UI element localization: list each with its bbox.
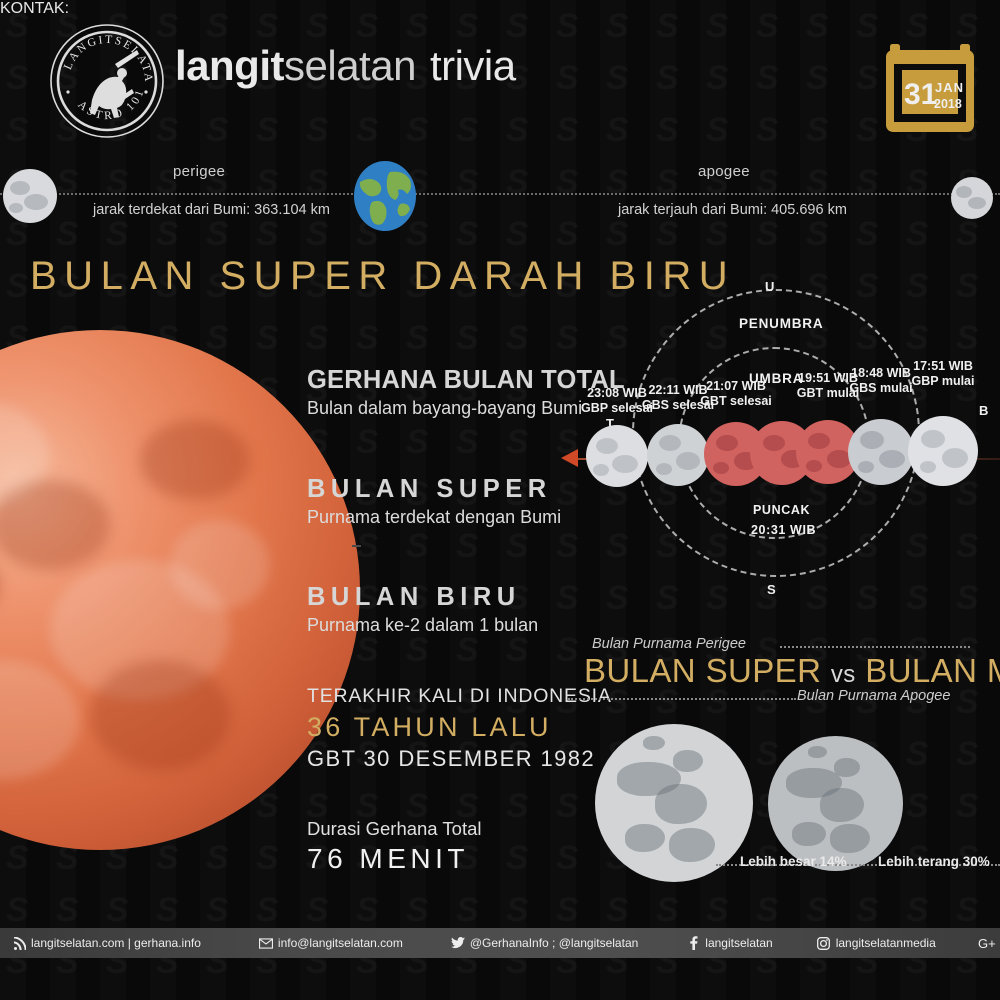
duration-block: Durasi Gerhana Total 76 MENIT [307, 818, 481, 875]
duration-value: 76 MENIT [307, 843, 481, 875]
fact-heading: BULAN BIRU [307, 583, 538, 612]
apogee-distance: jarak terjauh dari Bumi: 405.696 km [618, 202, 847, 218]
perigee-distance: jarak terdekat dari Bumi: 363.104 km [93, 202, 330, 218]
contact-twitter[interactable]: @GerhanaInfo ; @langitselatan [451, 936, 638, 950]
contact-instagram[interactable]: langitselatanmedia [817, 936, 936, 950]
facebook-icon [686, 936, 700, 950]
decorative-dash [352, 545, 361, 547]
title-right: BULAN MINI [865, 652, 1000, 689]
super-vs-mini-section: Bulan Purnama Perigee BULAN SUPER vs BUL… [560, 632, 1000, 892]
brand-selatan: selatan [284, 42, 416, 89]
contact-website[interactable]: langitselatan.com | gerhana.info [12, 936, 201, 950]
svg-text:31: 31 [904, 78, 937, 111]
fact-subtitle: Purnama ke-2 dalam 1 bulan [307, 615, 538, 636]
blood-moon-image [0, 330, 360, 850]
compass-west-label: B [979, 403, 989, 418]
brand-langit: langit [175, 42, 284, 89]
phase-time: 17:51 WIB [913, 359, 973, 373]
direction-arrow-icon [561, 449, 578, 467]
compass-north-label: U [765, 279, 775, 294]
twitter-icon [451, 936, 465, 950]
eclipse-path-diagram: U S T B PENUMBRA UMBRA PUNCAK 20:31 WIB … [555, 275, 1000, 620]
langitselatan-logo-icon: LANGITSELATAN ASTRO 101 [48, 22, 166, 140]
phase-event: GBP mulai [912, 374, 975, 388]
compass-south-label: S [767, 582, 777, 597]
peak-time: 20:31 WIB [751, 523, 816, 537]
contact-text: langitselatanmedia [836, 936, 936, 950]
infographic-canvas: SSSSSSSSSSSSSSSSSSSSSSSSSSSSSSSSSSSSSSSS… [0, 0, 1000, 1000]
svg-text:JAN: JAN [935, 80, 964, 95]
contact-text: langitselatan.com | gerhana.info [31, 936, 201, 950]
brighter-percentage-label: Lebih terang 30% [878, 854, 990, 869]
contact-bar: langitselatan.com | gerhana.info info@la… [0, 928, 1000, 958]
apogee-label: apogee [698, 163, 750, 180]
minimoon-illustration [768, 736, 903, 871]
fact-subtitle: Purnama terdekat dengan Bumi [307, 507, 561, 528]
caption-dotted-line-top [780, 646, 970, 648]
supermoon-illustration [595, 724, 753, 882]
phase-time: 21:07 WIB [706, 379, 766, 393]
instagram-icon [817, 936, 831, 950]
perigee-label: perigee [173, 163, 225, 180]
svg-text:G+: G+ [978, 937, 996, 950]
fact-bulan-super: BULAN SUPER Purnama terdekat dengan Bumi [307, 475, 561, 528]
fact-bulan-biru: BULAN BIRU Purnama ke-2 dalam 1 bulan [307, 583, 538, 636]
perigee-moon-icon [2, 168, 58, 229]
duration-label: Durasi Gerhana Total [307, 818, 481, 840]
caption-dotted-line-bottom [568, 698, 796, 700]
calendar-icon: 31 JAN 2018 31 JAN 2018 [884, 36, 976, 136]
phase-moon-4: 18:48 WIB GBS mulai [847, 418, 915, 486]
fact-heading: BULAN SUPER [307, 475, 561, 504]
email-icon [259, 936, 273, 950]
orbit-dotted-line [0, 193, 1000, 195]
title-vs: vs [831, 661, 856, 688]
apogee-moon-icon [950, 176, 994, 225]
googleplus-icon: G+ [978, 936, 1000, 950]
contact-text: @GerhanaInfo ; @langitselatan [470, 936, 638, 950]
contact-email[interactable]: info@langitselatan.com [259, 936, 403, 950]
brand-trivia: trivia [430, 42, 516, 89]
rss-icon [12, 936, 26, 950]
perigee-apogee-bar: perigee jarak terdekat dari Bumi: 363.10… [0, 150, 1000, 240]
title-left: BULAN SUPER [584, 652, 821, 689]
phase-moon-0: 23:08 WIB GBP selesai [585, 424, 649, 488]
contact-facebook[interactable]: langitselatan [686, 936, 772, 950]
header: LANGITSELATAN ASTRO 101 langitselatantri… [0, 0, 1000, 150]
contact-text: info@langitselatan.com [278, 936, 403, 950]
contact-googleplus[interactable]: G+ LangitselatanMedia [978, 936, 1000, 950]
brand-wordmark: langitselatantrivia [175, 42, 516, 90]
super-vs-mini-title: BULAN SUPER vs BULAN MINI [584, 652, 1000, 690]
perigee-full-moon-caption: Bulan Purnama Perigee [592, 636, 746, 652]
peak-label: PUNCAK [753, 503, 810, 517]
svg-text:2018: 2018 [934, 97, 962, 111]
apogee-full-moon-caption: Bulan Purnama Apogee [797, 688, 950, 704]
phase-moon-1: 22:11 WIB GBS selesai [646, 423, 710, 487]
phase-moon-5: 17:51 WIB GBP mulai [907, 415, 979, 487]
phase-event: GBT selesai [700, 394, 772, 408]
earth-icon [352, 160, 418, 237]
penumbra-label: PENUMBRA [739, 316, 823, 331]
contact-text: langitselatan [705, 936, 772, 950]
bigger-percentage-label: Lebih besar 14% [740, 854, 847, 869]
